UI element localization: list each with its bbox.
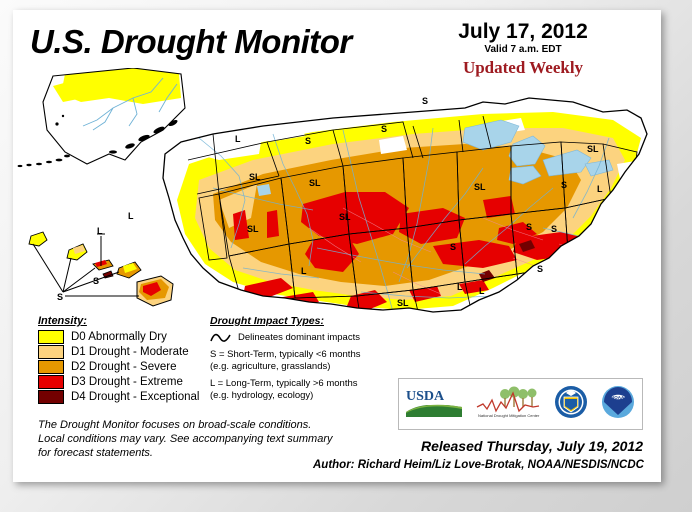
drought-monitor-sheet: U.S. Drought Monitor July 17, 2012 Valid… [13,10,661,482]
map-impact-label: SL [339,212,351,222]
legend-heading: Intensity: [38,315,213,327]
map-impact-label: S [381,124,387,134]
usda-logo: USDA [405,385,463,424]
seal-logo [554,385,588,424]
long-term-line: L = Long-Term, typically >6 months [210,378,400,390]
short-term-desc: S = Short-Term, typically <6 months (e.g… [210,349,400,372]
legend-item-d0: D0 Abnormally Dry [38,330,213,344]
noaa-logo: NOAA [600,385,636,424]
map-impact-label: S [305,136,311,146]
legend-item-d1: D1 Drought - Moderate [38,345,213,359]
map-impact-label: SL [309,178,321,188]
short-term-eg-line: (e.g. agriculture, grasslands) [210,361,400,373]
map-impact-label: SL [587,144,599,154]
squiggle-icon [210,331,232,343]
disclaimer-line-1: The Drought Monitor focuses on broad-sca… [38,418,368,432]
legend-swatch-d0 [38,330,64,344]
short-term-line: S = Short-Term, typically <6 months [210,349,400,361]
svg-text:USDA: USDA [406,389,445,404]
valid-time: Valid 7 a.m. EDT [408,44,638,55]
released-date: Released Thursday, July 19, 2012 [343,438,643,454]
long-term-eg-line: (e.g. hydrology, ecology) [210,390,400,402]
legend-swatch-d2 [38,360,64,374]
map-impact-label: SL [397,298,409,308]
intensity-legend: Intensity: D0 Abnormally DryD1 Drought -… [38,315,213,405]
map-impact-label: L [235,134,241,144]
svg-text:NOAA: NOAA [611,395,625,400]
legend-swatch-d1 [38,345,64,359]
legend-label-d1: D1 Drought - Moderate [71,346,189,358]
map-impact-label: L [597,184,603,194]
legend-label-d0: D0 Abnormally Dry [71,331,167,343]
partner-logos: USDA National Drou [398,378,643,430]
hawaii-inset: S L [29,226,173,306]
legend-label-d2: D2 Drought - Severe [71,361,176,373]
map-impact-label: L [457,282,463,292]
map-impact-label: S [537,264,543,274]
map-date: July 17, 2012 [408,20,638,44]
legend-label-d3: D3 Drought - Extreme [71,376,183,388]
page-title: U.S. Drought Monitor [30,23,352,61]
map-impact-label: SL [474,182,486,192]
impacts-heading: Drought Impact Types: [210,315,400,327]
map-impact-label: L [301,266,307,276]
conus-map [153,88,661,318]
map-impact-label: L [128,211,134,221]
legend-item-d2: D2 Drought - Severe [38,360,213,374]
hawaii-pointers [33,234,139,296]
map-impact-label: S [561,180,567,190]
svg-text:S: S [57,292,63,302]
map-impact-label: L [479,286,485,296]
drought-impact-types: Drought Impact Types: Delineates dominan… [210,315,400,407]
svg-text:L: L [97,226,103,236]
map-impact-label: S [93,276,99,286]
map-impact-label: SL [249,172,261,182]
map-impact-label: SL [247,224,259,234]
disclaimer-text: The Drought Monitor focuses on broad-sca… [38,418,368,460]
map-impact-label: S [526,222,532,232]
map-impact-label: S [450,242,456,252]
map-impact-label: S [422,96,428,106]
svg-text:National Drought Mitigation Ce: National Drought Mitigation Center [478,413,540,418]
legend-swatch-d3 [38,375,64,389]
legend-swatch-d4 [38,390,64,404]
legend-label-d4: D4 Drought - Exceptional [71,391,199,403]
disclaimer-line-3: for forecast statements. [38,446,368,460]
author-credit: Author: Richard Heim/Liz Love-Brotak, NO… [313,459,643,471]
long-term-desc: L = Long-Term, typically >6 months (e.g.… [210,378,400,401]
drought-map: S L [13,68,661,318]
map-impact-label: S [551,224,557,234]
legend-item-d3: D3 Drought - Extreme [38,375,213,389]
delineates-row: Delineates dominant impacts [210,331,400,343]
ndmc-logo: National Drought Mitigation Center [475,385,541,424]
disclaimer-line-2: Local conditions may vary. See accompany… [38,432,368,446]
image-frame: U.S. Drought Monitor July 17, 2012 Valid… [0,0,692,512]
legend-item-d4: D4 Drought - Exceptional [38,390,213,404]
legend-rows: D0 Abnormally DryD1 Drought - ModerateD2… [38,330,213,404]
delineates-label: Delineates dominant impacts [238,332,360,343]
